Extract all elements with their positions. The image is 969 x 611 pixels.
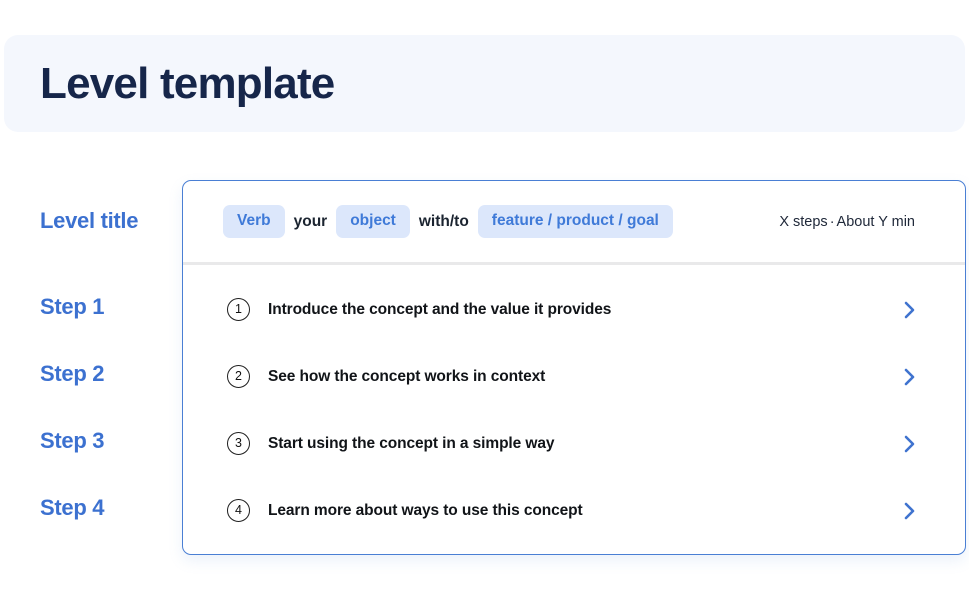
card-header: Verb your object with/to feature / produ…: [183, 181, 965, 262]
rail-item-step-1: Step 1: [40, 294, 104, 320]
step-label: Introduce the concept and the value it p…: [268, 301, 611, 319]
meta-duration: About Y min: [837, 214, 915, 230]
step-row[interactable]: 2 See how the concept works in context: [183, 343, 965, 410]
meta-steps-count: X steps: [779, 214, 827, 230]
step-number-badge: 1: [227, 298, 250, 321]
card-meta: X steps·About Y min: [779, 214, 915, 230]
meta-separator: ·: [828, 214, 837, 230]
step-number-badge: 3: [227, 432, 250, 455]
level-template-card: Verb your object with/to feature / produ…: [182, 180, 966, 555]
step-label: Start using the concept in a simple way: [268, 435, 554, 453]
word-with-to: with/to: [419, 214, 469, 230]
rail-item-level-title: Level title: [40, 208, 138, 234]
rail-item-step-2: Step 2: [40, 361, 104, 387]
left-rail: Level title Step 1 Step 2 Step 3 Step 4: [40, 176, 180, 556]
chevron-right-icon[interactable]: [899, 434, 919, 454]
rail-item-step-3: Step 3: [40, 428, 104, 454]
object-pill[interactable]: object: [336, 205, 410, 238]
page-title: Level template: [40, 59, 334, 109]
step-number-badge: 4: [227, 499, 250, 522]
target-pill[interactable]: feature / product / goal: [478, 205, 673, 238]
step-row[interactable]: 4 Learn more about ways to use this conc…: [183, 477, 965, 544]
title-formula: Verb your object with/to feature / produ…: [223, 205, 673, 238]
chevron-right-icon[interactable]: [899, 367, 919, 387]
word-your: your: [294, 214, 328, 230]
step-row[interactable]: 1 Introduce the concept and the value it…: [183, 276, 965, 343]
chevron-right-icon[interactable]: [899, 300, 919, 320]
step-label: See how the concept works in context: [268, 368, 545, 386]
chevron-right-icon[interactable]: [899, 501, 919, 521]
step-label: Learn more about ways to use this concep…: [268, 502, 583, 520]
verb-pill[interactable]: Verb: [223, 205, 285, 238]
step-row[interactable]: 3 Start using the concept in a simple wa…: [183, 410, 965, 477]
rail-item-step-4: Step 4: [40, 495, 104, 521]
step-number-badge: 2: [227, 365, 250, 388]
header-banner: Level template: [4, 35, 965, 132]
steps-list: 1 Introduce the concept and the value it…: [183, 265, 965, 544]
